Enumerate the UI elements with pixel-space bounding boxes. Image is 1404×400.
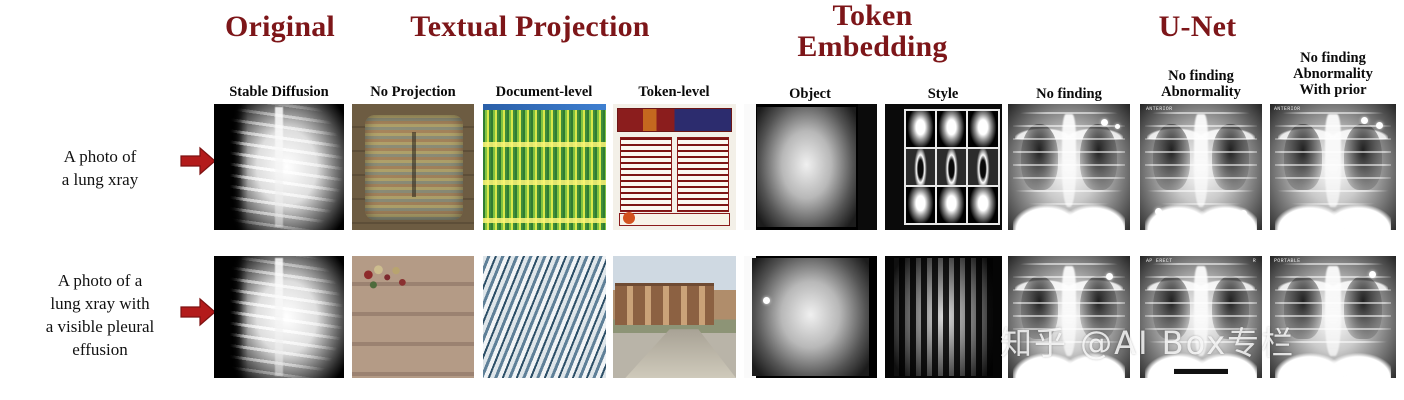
cell-row2-no-finding[interactable] — [1008, 256, 1130, 378]
cell-row1-token-level[interactable] — [613, 104, 736, 230]
cell-row2-document-level[interactable] — [483, 256, 606, 378]
column-header-no-finding-abnormality: No finding Abnormality — [1138, 68, 1264, 100]
cell-row2-no-finding-abnormality-with-prior[interactable]: PORTABLE — [1270, 256, 1396, 378]
row-prompt-label-2: A photo of a lung xray with a visible pl… — [14, 270, 186, 362]
artwork-wood-planks-with-flowers — [352, 256, 474, 378]
artwork-inverted-ribcage-xray-effusion — [214, 256, 344, 378]
figure-root: Original Textual Projection Token Embedd… — [0, 0, 1404, 400]
arrow-right-icon-row1 — [180, 146, 216, 176]
artwork-blue-woven-texture — [483, 256, 606, 378]
group-title-token-embedding: Token Embedding — [745, 1, 1000, 62]
column-header-no-finding: No finding — [1006, 86, 1132, 102]
row-prompt-label-1: A photo of a lung xray — [20, 146, 180, 192]
column-header-object: Object — [742, 86, 878, 102]
column-header-document-level: Document-level — [480, 84, 608, 100]
artwork-chest-xray-abnormality-2: AP ERECT R — [1140, 256, 1262, 378]
column-header-no-finding-abnormality-with-prior: No finding Abnormality With prior — [1268, 50, 1398, 99]
artwork-inverted-ribcage-xray — [214, 104, 344, 230]
group-title-original: Original — [200, 12, 360, 43]
cell-row1-style[interactable] — [885, 104, 1002, 230]
artwork-style-thumbnail-grid — [885, 104, 1002, 230]
cell-row1-object[interactable] — [744, 104, 877, 230]
cell-row1-stable-diffusion[interactable] — [214, 104, 344, 230]
artwork-object-chest-xray — [744, 104, 877, 230]
cell-row1-no-projection[interactable] — [352, 104, 474, 230]
column-header-stable-diffusion: Stable Diffusion — [212, 84, 346, 100]
column-header-style: Style — [883, 86, 1003, 102]
cell-row1-no-finding-abnormality[interactable]: ANTERIOR — [1140, 104, 1262, 230]
group-title-textual-projection: Textual Projection — [355, 12, 705, 43]
artwork-chest-xray-no-finding-2 — [1008, 256, 1130, 378]
artwork-striped-xray — [885, 256, 1002, 378]
cell-row1-no-finding[interactable] — [1008, 104, 1130, 230]
artwork-chest-xray-abnormality-with-prior-2: PORTABLE — [1270, 256, 1396, 378]
artwork-document-poster — [613, 104, 736, 230]
artwork-wooden-plaque — [352, 104, 474, 230]
cell-row2-object[interactable] — [744, 256, 877, 378]
artwork-chest-xray-no-finding — [1008, 104, 1130, 230]
cell-row2-no-finding-abnormality[interactable]: AP ERECT R — [1140, 256, 1262, 378]
cell-row2-style[interactable] — [885, 256, 1002, 378]
artwork-shoulder-chest-xray — [744, 256, 877, 378]
cell-row1-document-level[interactable] — [483, 104, 606, 230]
cell-row2-token-level[interactable] — [613, 256, 736, 378]
column-header-token-level: Token-level — [611, 84, 737, 100]
artwork-chest-xray-abnormality: ANTERIOR — [1140, 104, 1262, 230]
cell-row2-no-projection[interactable] — [352, 256, 474, 378]
column-header-no-projection: No Projection — [350, 84, 476, 100]
artwork-street-scene — [613, 256, 736, 378]
group-title-unet: U-Net — [1110, 12, 1285, 43]
cell-row2-stable-diffusion[interactable] — [214, 256, 344, 378]
cell-row1-no-finding-abnormality-with-prior[interactable]: ANTERIOR — [1270, 104, 1396, 230]
artwork-chest-xray-abnormality-with-prior: ANTERIOR — [1270, 104, 1396, 230]
artwork-green-noise-texture — [483, 104, 606, 230]
arrow-right-icon-row2 — [180, 297, 216, 327]
